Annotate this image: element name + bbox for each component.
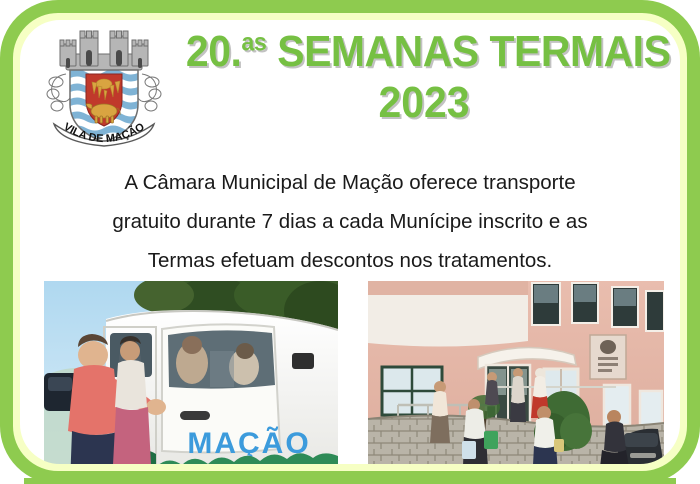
van-text-macao: MAÇÃO (187, 426, 310, 460)
person-3 (485, 372, 499, 406)
photo-transport-van: MAÇÃO (44, 281, 338, 484)
poster-title-ordinal: as (241, 28, 266, 56)
body-line-1: A Câmara Municipal de Mação oferece tran… (56, 163, 644, 202)
photo-thermal-building (368, 281, 664, 484)
poster-header: VILA DE MAÇÃO 20.as SEMANAS TERMAIS 2023 (0, 0, 700, 160)
poster-body-copy: A Câmara Municipal de Mação oferece tran… (56, 163, 644, 280)
poster-title-year: 2023 (186, 78, 662, 128)
body-line-2: gratuito durante 7 dias a cada Munícipe … (56, 202, 644, 241)
body-line-3: Termas efetuam descontos nos tratamentos… (56, 241, 644, 280)
poster-title-main: 20.as SEMANAS TERMAIS (186, 26, 662, 78)
poster-title-text: SEMANAS TERMAIS (266, 27, 670, 76)
poster-title-block: 20.as SEMANAS TERMAIS 2023 (168, 26, 680, 128)
poster: VILA DE MAÇÃO 20.as SEMANAS TERMAIS 2023… (0, 0, 700, 484)
poster-title-number: 20. (186, 27, 241, 76)
poster-photo-row: MAÇÃO (0, 281, 700, 484)
coat-of-arms-icon: VILA DE MAÇÃO (40, 24, 168, 158)
